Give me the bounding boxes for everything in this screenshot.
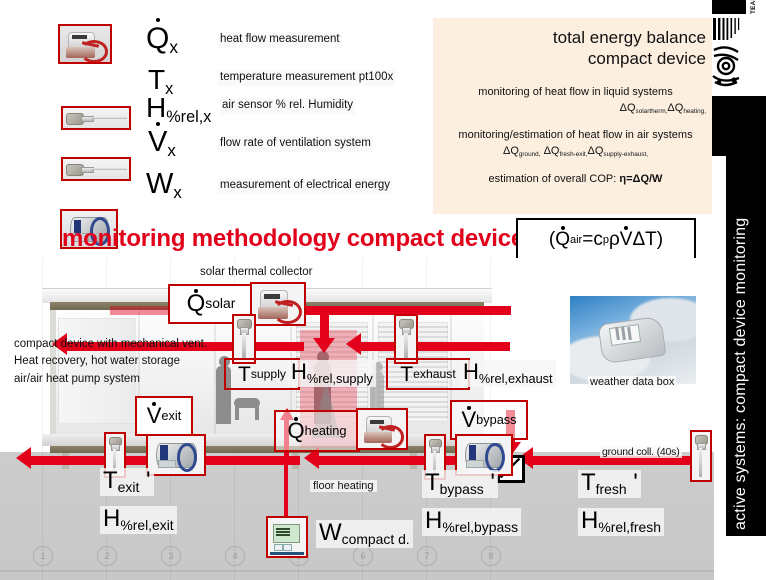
energy-balance-cop-prefix: estimation of overall COP: bbox=[489, 173, 620, 185]
building-description-line3: air/air heat pump system bbox=[14, 371, 207, 388]
legend-sub-q: x bbox=[169, 37, 178, 57]
eb-f2-sub1: ground, bbox=[519, 151, 541, 158]
formula-v: V bbox=[620, 229, 633, 251]
energy-balance-cop: estimation of overall COP: η=ΔQ/W bbox=[433, 173, 718, 185]
t-exit-base: T bbox=[103, 467, 118, 494]
label-h-supply: H%rel,supply bbox=[288, 360, 376, 387]
t-fresh-sub: fresh bbox=[596, 481, 627, 497]
ground-collector-caption: ground coll. (40s) bbox=[600, 446, 682, 458]
grid-number-1: 1 bbox=[33, 546, 53, 566]
heat-meter-photo bbox=[58, 24, 112, 64]
w-compact-base: W bbox=[319, 519, 342, 546]
sensor-legend: Qx heat flow measurement Tx temperature … bbox=[58, 18, 418, 218]
v-exit-base: V bbox=[147, 405, 162, 427]
label-h-exhaust: H%rel,exhaust bbox=[460, 360, 556, 387]
h-exit-sub: %rel,exit bbox=[120, 517, 173, 533]
h-fresh-base: H bbox=[581, 507, 598, 534]
label-h-fresh: H%rel,fresh bbox=[578, 508, 664, 536]
legend-sub-w: x bbox=[173, 183, 181, 202]
label-h-exit: H%rel,exit bbox=[100, 506, 177, 534]
building-section-diagram: 1 2 3 4 5 6 7 8 bbox=[0, 258, 714, 580]
label-t-bypass: Tbypass ' bbox=[422, 470, 498, 498]
grid-number-2: 2 bbox=[97, 546, 117, 566]
h-exhaust-sub: %rel,exhaust bbox=[479, 371, 553, 386]
eb-f2-sub2: fresh-exit, bbox=[559, 151, 587, 158]
eb-f1-sub2: heating, bbox=[683, 108, 706, 115]
humidity-probe-photo bbox=[61, 157, 131, 181]
grid-number-7: 7 bbox=[417, 546, 437, 566]
grid-number-8: 8 bbox=[481, 546, 501, 566]
label-t-exhaust: Texhaust bbox=[386, 358, 470, 390]
label-v-exit: Vexit bbox=[135, 396, 193, 436]
legend-desc-h: air sensor % rel. Humidity bbox=[220, 98, 355, 114]
energy-balance-cop-formula: η=ΔQ/W bbox=[619, 173, 662, 185]
duct-solar-down-arrow bbox=[313, 338, 335, 353]
dog-leg-1 bbox=[235, 406, 239, 420]
formula-q: Q bbox=[555, 229, 570, 251]
energy-balance-line2: monitoring/estimation of heat flow in ai… bbox=[433, 128, 718, 143]
slide-root: Qx heat flow measurement Tx temperature … bbox=[0, 0, 766, 580]
legend-desc-t: temperature measurement pt100x bbox=[218, 70, 395, 86]
duct-exhaust bbox=[360, 342, 510, 351]
t-supply-sub: supply bbox=[251, 368, 286, 380]
air-heat-formula-box: (Qair=cp ρ V ΔT) bbox=[516, 218, 696, 262]
pt100-probe-photo bbox=[61, 106, 131, 130]
label-t-fresh: Tfresh ' bbox=[578, 470, 641, 498]
legend-sub-v: x bbox=[167, 141, 175, 160]
legend-symbol-q: Qx bbox=[146, 24, 178, 57]
energy-balance-line1: monitoring of heat flow in liquid system… bbox=[433, 85, 718, 100]
w-compact-sub: compact d. bbox=[342, 531, 410, 547]
logo-text-line1: SOLAR DECATHLON 07 bbox=[740, 0, 749, 14]
weather-data-box-caption: weather data box bbox=[588, 376, 676, 388]
h-supply-base: H bbox=[291, 359, 307, 384]
formula-eq: =c bbox=[582, 229, 603, 251]
q-heating-base: Q bbox=[288, 420, 305, 442]
legend-symbol-h: H%rel,x bbox=[146, 94, 211, 125]
label-w-compact: Wcompact d. bbox=[316, 520, 413, 548]
duct-exhaust-arrow bbox=[346, 333, 361, 355]
building-description: compact device with mechanical vent. Hea… bbox=[14, 336, 207, 388]
q-solar-base: Q bbox=[187, 292, 206, 316]
probe-thumb-exhaust bbox=[394, 314, 418, 364]
formula-close: ) bbox=[657, 229, 663, 251]
label-q-heating: Qheating bbox=[274, 410, 360, 452]
t-exhaust-base: T bbox=[400, 364, 413, 385]
solar-decathlon-logo: SOLAR DECATHLON 07 TEAM DEUTSCHLAND bbox=[712, 16, 766, 94]
legend-desc-v: flow rate of ventilation system bbox=[218, 136, 373, 152]
grid-number-6: 6 bbox=[353, 546, 373, 566]
dog-leg-2 bbox=[255, 406, 259, 420]
formula-dt: ΔT bbox=[632, 229, 656, 251]
duct-electric-riser bbox=[284, 460, 288, 522]
heat-meter-thumb-solar bbox=[250, 282, 306, 326]
h-fresh-sub: %rel,fresh bbox=[598, 519, 661, 535]
duct-solar-down bbox=[320, 306, 329, 342]
floor-heating-caption: floor heating bbox=[310, 480, 377, 492]
grid-number-4: 4 bbox=[225, 546, 245, 566]
q-heating-sub: heating bbox=[305, 425, 347, 438]
logo-mark-icon bbox=[712, 16, 742, 88]
flow-sensor-thumb-exit bbox=[146, 434, 206, 476]
h-supply-sub: %rel,supply bbox=[307, 371, 373, 386]
energy-balance-title-line2: compact device bbox=[445, 49, 706, 70]
t-exit-sub: exit bbox=[118, 479, 140, 495]
building-description-line1: compact device with mechanical vent. bbox=[14, 336, 207, 353]
legend-sub-h: %rel,x bbox=[166, 108, 211, 126]
h-bypass-base: H bbox=[425, 507, 442, 534]
t-fresh-base: T bbox=[581, 469, 596, 496]
solar-collector-caption: solar thermal collector bbox=[200, 266, 312, 278]
energy-balance-formula1: ΔQsolartherm,ΔQheating, bbox=[433, 102, 718, 115]
t-bypass-sub: bypass bbox=[440, 481, 484, 497]
v-bypass-sub: bypass bbox=[476, 414, 516, 427]
probe-thumb-fresh bbox=[690, 430, 712, 482]
label-t-exit: Texit ' bbox=[100, 468, 154, 496]
formula-q-sub: air bbox=[570, 234, 582, 246]
legend-symbol-v: Vx bbox=[148, 128, 176, 160]
duct-floor-left-arrow bbox=[16, 447, 31, 469]
probe-thumb-supply bbox=[232, 314, 256, 364]
legend-desc-q: heat flow measurement bbox=[218, 32, 342, 48]
t-exhaust-sub: exhaust bbox=[413, 368, 456, 380]
energy-balance-title: total energy balance compact device bbox=[433, 18, 718, 69]
energy-balance-formula2: ΔQground, ΔQfresh-exit,ΔQsupply-exhaust, bbox=[433, 145, 718, 158]
formula-rho: ρ bbox=[609, 229, 620, 251]
scene-baseline bbox=[0, 570, 714, 572]
v-exit-sub: exit bbox=[161, 410, 181, 423]
h-exit-base: H bbox=[103, 505, 120, 532]
energy-balance-title-line1: total energy balance bbox=[445, 28, 706, 49]
building-description-line2: Heat recovery, hot water storage bbox=[14, 353, 207, 370]
t-bypass-base: T bbox=[425, 469, 440, 496]
logo-text: SOLAR DECATHLON 07 TEAM DEUTSCHLAND bbox=[740, 0, 766, 16]
eb-f1-sub1: solartherm, bbox=[636, 108, 668, 115]
legend-symbol-w: Wx bbox=[146, 170, 182, 202]
t-supply-base: T bbox=[238, 364, 251, 385]
right-sidebar: SOLAR DECATHLON 07 TEAM DEUTSCHLAND acti… bbox=[712, 0, 766, 580]
electric-meter-thumb bbox=[266, 516, 308, 558]
sidebar-vertical-title: active systems: compact device monitorin… bbox=[732, 100, 762, 530]
heat-meter-thumb-heating bbox=[356, 408, 408, 450]
energy-balance-panel: total energy balance compact device moni… bbox=[433, 18, 718, 214]
v-bypass-base: V bbox=[461, 409, 476, 431]
h-bypass-sub: %rel,bypass bbox=[442, 519, 518, 535]
logo-text-line2: TEAM DEUTSCHLAND bbox=[749, 0, 758, 14]
label-h-bypass: H%rel,bypass bbox=[422, 508, 521, 536]
legend-desc-w: measurement of electrical energy bbox=[218, 178, 392, 194]
eb-f2-sub3: supply-exhaust, bbox=[603, 151, 648, 158]
page-title: monitoring methodology compact device bbox=[62, 225, 524, 253]
grid-number-3: 3 bbox=[161, 546, 181, 566]
q-solar-sub: solar bbox=[205, 297, 235, 311]
h-exhaust-base: H bbox=[463, 359, 479, 384]
weather-data-box-photo bbox=[570, 296, 696, 384]
